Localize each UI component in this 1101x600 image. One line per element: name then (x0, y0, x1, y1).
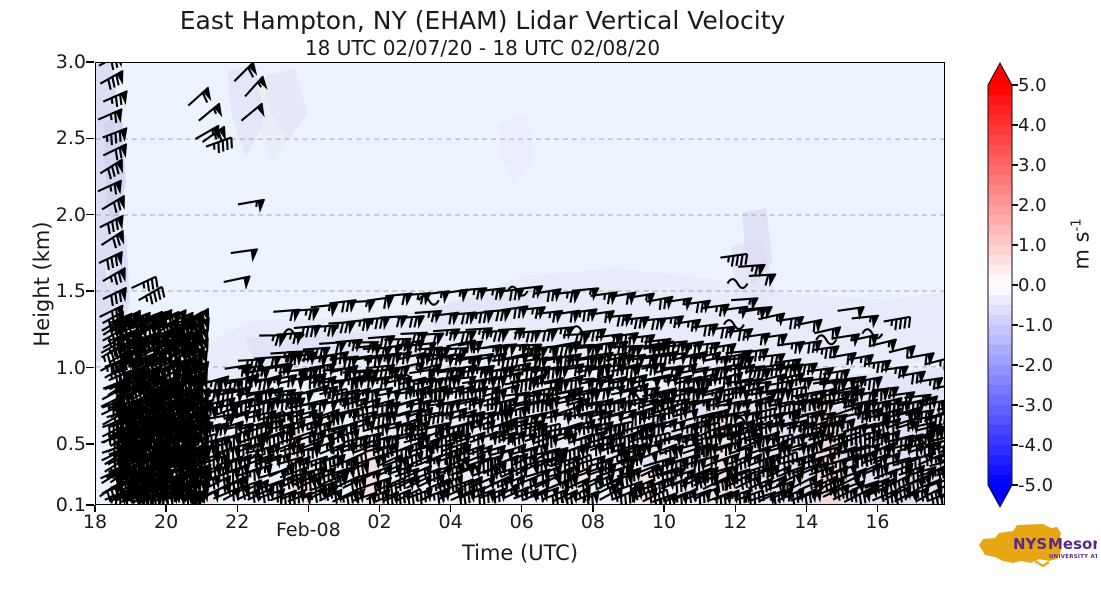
x-axis-label: Time (UTC) (95, 541, 945, 565)
logo-tagline-text: UNIVERSITY AT ALBANY (1049, 554, 1097, 560)
x-tick-label: 06 (510, 511, 534, 533)
x-tick-label: 22 (225, 511, 249, 533)
colorbar-tick-label: 2.0 (1018, 195, 1047, 216)
long-island-shape (1035, 561, 1049, 566)
y-tick-mark (86, 504, 94, 505)
colorbar: 5.04.03.02.01.00.0-1.0-2.0-3.0-4.0-5.0 (988, 62, 1012, 508)
x-tick-mark (735, 505, 736, 512)
x-tick-label: 14 (794, 511, 818, 533)
x-tick-mark (379, 505, 380, 512)
y-tick-label: 3.0 (40, 51, 86, 73)
x-tick-mark (237, 505, 238, 512)
x-tick-mark (308, 505, 309, 512)
x-tick-mark (450, 505, 451, 512)
y-tick-mark (86, 214, 94, 215)
colorbar-tick-mark (1012, 204, 1018, 205)
y-tick-mark (86, 443, 94, 444)
colorbar-tick-mark (1012, 444, 1018, 445)
colorbar-tick-label: 0.0 (1018, 275, 1047, 296)
colorbar-tick-mark (1012, 364, 1018, 365)
logo-nys-text: NYS (1013, 535, 1047, 553)
nys-mesonet-logo: NYS Mesonet UNIVERSITY AT ALBANY (973, 521, 1097, 573)
colorbar-tick-label: -2.0 (1018, 355, 1053, 376)
colorbar-tick-mark (1012, 284, 1018, 285)
y-tick-mark (86, 61, 94, 62)
chart-title: East Hampton, NY (EHAM) Lidar Vertical V… (0, 6, 965, 35)
chart-subtitle: 18 UTC 02/07/20 - 18 UTC 02/08/20 (0, 36, 965, 60)
x-tick-label: 12 (723, 511, 747, 533)
colorbar-tick-label: 4.0 (1018, 115, 1047, 136)
x-tick-mark (877, 505, 878, 512)
plot-area (95, 62, 945, 505)
x-tick-label: 08 (581, 511, 605, 533)
colorbar-tick-label: 1.0 (1018, 235, 1047, 256)
colorbar-tick-mark (1012, 84, 1018, 85)
x-tick-label: 18 (83, 511, 107, 533)
colorbar-tick-label: 3.0 (1018, 155, 1047, 176)
y-tick-label: 0.1 (40, 494, 86, 516)
colorbar-tick-mark (1012, 484, 1018, 485)
x-tick-label: 20 (154, 511, 178, 533)
x-tick-mark (521, 505, 522, 512)
colorbar-tick-label: -3.0 (1018, 395, 1053, 416)
colorbar-tick-mark (1012, 124, 1018, 125)
x-tick-mark (806, 505, 807, 512)
logo-mesonet-text: Mesonet (1048, 535, 1097, 553)
colorbar-tick-label: -1.0 (1018, 315, 1053, 336)
y-axis-label: Height (km) (30, 184, 54, 384)
x-tick-label: Feb-08 (276, 519, 341, 541)
colorbar-tick-mark (1012, 404, 1018, 405)
y-tick-label: 0.5 (40, 433, 86, 455)
colorbar-tick-mark (1012, 244, 1018, 245)
x-tick-mark (94, 505, 95, 512)
x-tick-label: 10 (652, 511, 676, 533)
colorbar-tick-label: -4.0 (1018, 435, 1053, 456)
colorbar-tick-mark (1012, 164, 1018, 165)
y-tick-label: 2.5 (40, 127, 86, 149)
y-axis-label-wrap: Height (km) (14, 62, 44, 505)
y-tick-mark (86, 290, 94, 291)
lidar-vertical-velocity-figure: East Hampton, NY (EHAM) Lidar Vertical V… (0, 0, 1101, 600)
colorbar-tick-mark (1012, 324, 1018, 325)
x-tick-mark (663, 505, 664, 512)
x-tick-label: 02 (367, 511, 391, 533)
y-tick-mark (86, 367, 94, 368)
x-tick-mark (165, 505, 166, 512)
colorbar-tick-label: 5.0 (1018, 75, 1047, 96)
y-tick-mark (86, 138, 94, 139)
plot-canvas (96, 63, 944, 504)
x-tick-label: 04 (439, 511, 463, 533)
x-tick-mark (592, 505, 593, 512)
x-tick-label: 16 (865, 511, 889, 533)
colorbar-unit-label: m s-1 (1070, 218, 1094, 269)
colorbar-tick-label: -5.0 (1018, 475, 1053, 496)
